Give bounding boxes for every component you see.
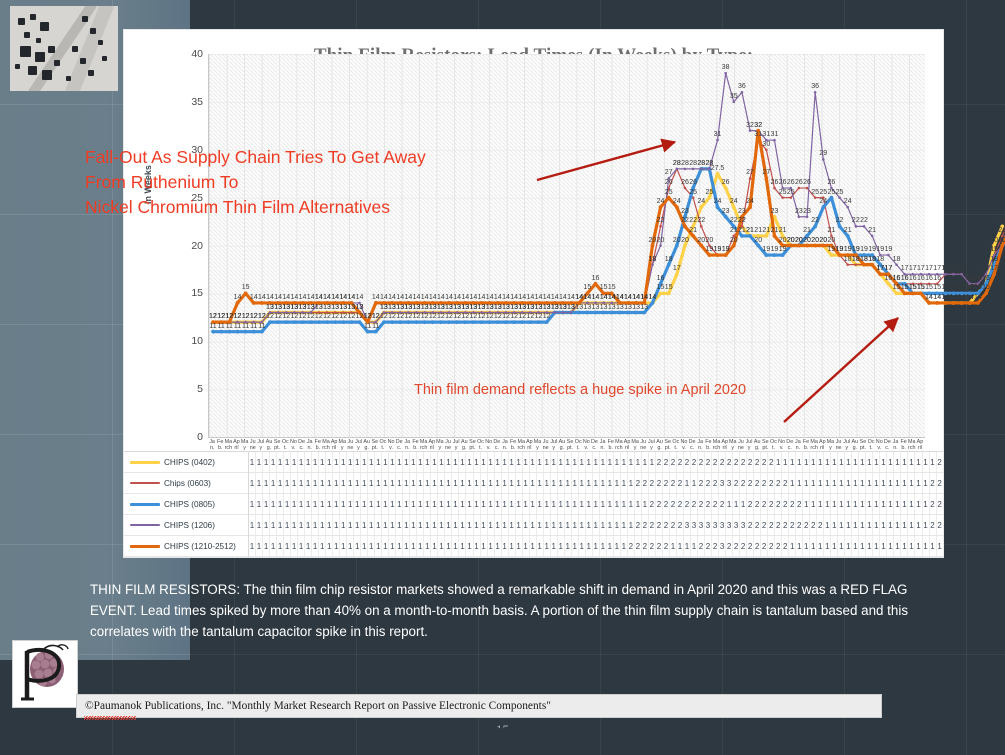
table-cell: 1 [873, 515, 880, 535]
table-cell: 1 [621, 536, 628, 556]
table-cell: 1 [642, 494, 649, 514]
series-marker [740, 234, 744, 238]
data-label: 13 [526, 304, 534, 311]
data-label: 12 [470, 313, 478, 320]
series-marker [651, 263, 654, 266]
table-cell: 1 [915, 473, 922, 493]
table-cell: 2 [726, 536, 733, 556]
table-cell: 2 [803, 515, 810, 535]
x-tick-label: May [826, 439, 834, 451]
series-marker [789, 244, 793, 248]
table-cell: 1 [291, 473, 298, 493]
table-cell: 2 [677, 452, 684, 472]
chip-resistor-photo [10, 6, 118, 91]
table-cell: 3 [705, 515, 712, 535]
table-cell: 2 [712, 473, 719, 493]
table-cell: 1 [263, 494, 270, 514]
data-label: 13 [356, 304, 364, 311]
data-label: 13 [413, 304, 421, 311]
data-label: 32 [754, 122, 762, 129]
table-cell: 1 [544, 515, 551, 535]
series-marker [797, 244, 801, 248]
data-label: 13 [600, 304, 608, 311]
x-tick-label: Jan. [696, 439, 704, 451]
table-cell: 1 [502, 452, 509, 472]
x-tick-label: Oct. [672, 439, 680, 451]
table-cell: 1 [396, 515, 403, 535]
table-cell: 1 [438, 494, 445, 514]
x-tick-label: Feb. [704, 439, 712, 451]
data-label: 19 [722, 246, 730, 253]
table-cell: 1 [389, 536, 396, 556]
table-cell: 1 [572, 494, 579, 514]
table-cell: 2 [698, 494, 705, 514]
series-marker [830, 253, 834, 257]
series-marker [651, 244, 655, 248]
data-label: 20 [649, 237, 657, 244]
data-label: 20 [998, 237, 1005, 244]
table-cell: 2 [937, 473, 944, 493]
table-cell: 1 [340, 473, 347, 493]
table-row[interactable]: 1111111111111111111111111111111111111111… [249, 452, 943, 473]
table-cell: 1 [565, 536, 572, 556]
table-cell: 1 [523, 515, 530, 535]
table-cell: 1 [291, 515, 298, 535]
series-marker [773, 234, 777, 238]
table-cell: 3 [726, 473, 733, 493]
table-cell: 1 [354, 494, 361, 514]
table-cell: 1 [431, 536, 438, 556]
data-label: 14 [925, 294, 933, 301]
table-cell: 3 [719, 515, 726, 535]
table-cell: 1 [537, 515, 544, 535]
table-cell: 1 [593, 515, 600, 535]
table-row[interactable]: 1111111111111111111111111111111111111111… [249, 473, 943, 494]
data-label: 20 [811, 237, 819, 244]
legend-color-swatch [130, 461, 160, 464]
series-marker [570, 311, 573, 314]
table-cell: 1 [319, 515, 326, 535]
data-label: 14 [941, 294, 949, 301]
table-cell: 1 [495, 494, 502, 514]
data-label: 15 [917, 284, 925, 291]
table-cell: 1 [445, 536, 452, 556]
data-label: 14 [347, 294, 355, 301]
series-marker [707, 196, 711, 200]
series-marker [781, 196, 784, 199]
table-cell: 1 [347, 536, 354, 556]
table-cell: 1 [852, 536, 859, 556]
table-cell: 1 [607, 452, 614, 472]
table-cell: 1 [256, 473, 263, 493]
table-cell: 1 [810, 473, 817, 493]
x-tick-label: April [232, 439, 240, 451]
table-row[interactable]: 1111111111111111111111111111111111111111… [249, 515, 943, 536]
table-cell: 1 [537, 494, 544, 514]
series-marker [911, 291, 915, 295]
series-marker [577, 311, 581, 315]
table-cell: 1 [544, 536, 551, 556]
legend-row[interactable]: CHIPS (1210-2512) [124, 536, 248, 557]
table-cell: 1 [368, 515, 375, 535]
table-cell: 1 [803, 536, 810, 556]
data-label: 14 [559, 294, 567, 301]
series-marker [919, 291, 923, 295]
legend-color-swatch [130, 545, 160, 548]
series-marker [943, 301, 947, 305]
data-label: 13 [291, 304, 299, 311]
data-label: 16 [657, 275, 665, 282]
table-cell: 1 [593, 452, 600, 472]
table-cell: 2 [656, 452, 663, 472]
table-row[interactable]: 1111111111111111111111111111111111111111… [249, 536, 943, 557]
table-cell: 1 [277, 452, 284, 472]
table-cell: 1 [452, 473, 459, 493]
table-cell: 1 [445, 473, 452, 493]
table-cell: 1 [796, 536, 803, 556]
data-label: 13 [616, 304, 624, 311]
data-label: 14 [510, 294, 518, 301]
table-cell: 1 [565, 515, 572, 535]
table-cell: 1 [579, 473, 586, 493]
legend-row[interactable]: CHIPS (0805) [124, 494, 248, 515]
x-tick-label: April [623, 439, 631, 451]
series-marker [878, 272, 882, 276]
series-marker [659, 244, 662, 247]
data-label: 27 [665, 169, 673, 176]
table-cell: 2 [656, 515, 663, 535]
data-label: 14 [600, 294, 608, 301]
series-marker [390, 320, 394, 324]
data-label: 12 [404, 313, 412, 320]
data-label: 13 [567, 304, 575, 311]
x-tick-label: June [346, 439, 354, 451]
table-cell: 1 [459, 473, 466, 493]
table-cell: 1 [831, 452, 838, 472]
data-label: 12 [396, 313, 404, 320]
table-cell: 1 [424, 452, 431, 472]
data-label: 14 [950, 294, 958, 301]
data-label: 32 [746, 122, 754, 129]
data-label: 21 [738, 227, 746, 234]
table-cell: 1 [628, 452, 635, 472]
table-cell: 1 [572, 515, 579, 535]
table-cell: 1 [333, 473, 340, 493]
table-cell: 2 [733, 473, 740, 493]
data-label: 20 [779, 237, 787, 244]
table-cell: 2 [761, 494, 768, 514]
table-cell: 1 [726, 494, 733, 514]
table-cell: 2 [698, 536, 705, 556]
data-label: 13 [640, 304, 648, 311]
table-cell: 2 [705, 494, 712, 514]
data-label: 38 [722, 64, 730, 71]
data-label: 14 [421, 294, 429, 301]
series-marker [699, 244, 703, 248]
table-cell: 1 [389, 473, 396, 493]
series-marker [732, 244, 736, 248]
data-label: 13 [315, 304, 323, 311]
data-label: 11 [258, 323, 265, 330]
table-cell: 1 [305, 515, 312, 535]
table-cell: 1 [466, 515, 473, 535]
table-cell: 3 [719, 473, 726, 493]
data-label: 12 [217, 313, 225, 320]
data-label: 12 [315, 313, 323, 320]
data-label: 14 [396, 294, 404, 301]
table-cell: 1 [607, 473, 614, 493]
data-label: 14 [315, 294, 323, 301]
x-tick-label: Jan. [501, 439, 509, 451]
x-tick-label: Oct. [281, 439, 289, 451]
table-cell: 1 [558, 494, 565, 514]
data-label: 20 [657, 237, 665, 244]
series-marker [260, 301, 264, 305]
table-cell: 1 [256, 536, 263, 556]
series-marker [716, 172, 720, 176]
data-label: 31 [714, 131, 722, 138]
table-cell: 2 [937, 452, 944, 472]
data-label: 14 [575, 294, 583, 301]
series-marker [537, 320, 541, 324]
data-label: 17 [901, 265, 909, 272]
series-marker [724, 72, 727, 75]
data-label: 12 [347, 313, 355, 320]
data-label: 13 [470, 304, 478, 311]
legend-row[interactable]: Chips (0603) [124, 473, 248, 494]
series-marker [862, 263, 866, 267]
series-marker [748, 234, 752, 238]
data-label: 19 [876, 246, 884, 253]
table-cell: 1 [438, 515, 445, 535]
x-tick-label: Jan. [306, 439, 314, 451]
data-label: 13 [396, 304, 404, 311]
series-marker [756, 244, 760, 248]
table-cell: 1 [600, 515, 607, 535]
data-label: 15 [665, 284, 673, 291]
x-tick-label: April [721, 439, 729, 451]
data-label: 26 [771, 179, 779, 186]
series-marker [748, 205, 752, 209]
data-label: 14 [274, 294, 282, 301]
table-cell: 2 [768, 515, 775, 535]
legend-row[interactable]: CHIPS (0402) [124, 452, 248, 473]
table-cell: 1 [866, 536, 873, 556]
series-marker [366, 330, 370, 334]
table-cell: 3 [740, 515, 747, 535]
data-label: 11 [242, 323, 249, 330]
data-label: 14 [453, 294, 461, 301]
x-tick-label: May [631, 439, 639, 451]
table-cell: 1 [319, 536, 326, 556]
data-label: 12 [209, 313, 217, 320]
series-marker [806, 215, 809, 218]
legend-row[interactable]: CHIPS (1206) [124, 515, 248, 536]
table-cell: 1 [621, 473, 628, 493]
table-cell: 1 [326, 515, 333, 535]
data-label: 12 [413, 313, 421, 320]
data-label: 13 [518, 304, 526, 311]
series-marker [610, 311, 614, 315]
table-cell: 1 [396, 494, 403, 514]
data-label: 14 [486, 294, 494, 301]
footer-text: ©Paumanok Publications, Inc. "Monthly Ma… [85, 700, 551, 712]
table-cell: 2 [754, 494, 761, 514]
x-tick-label: July [843, 439, 851, 451]
table-cell: 1 [544, 473, 551, 493]
series-marker [683, 224, 687, 228]
series-marker [773, 253, 777, 257]
series-marker [741, 91, 744, 94]
table-cell: 1 [298, 473, 305, 493]
table-cell: 1 [488, 494, 495, 514]
x-tick-label: April [428, 439, 436, 451]
data-label: 13 [592, 304, 600, 311]
table-cell: 1 [537, 536, 544, 556]
table-cell: 1 [593, 536, 600, 556]
table-cell: 1 [845, 452, 852, 472]
data-label: 13 [559, 304, 567, 311]
table-cell: 1 [509, 473, 516, 493]
table-cell: 1 [333, 536, 340, 556]
data-label: 14 [461, 294, 469, 301]
table-cell: 1 [403, 473, 410, 493]
data-label: 12 [526, 313, 534, 320]
data-label: 13 [339, 304, 347, 311]
table-cell: 1 [684, 473, 691, 493]
table-cell: 1 [284, 515, 291, 535]
table-cell: 2 [726, 452, 733, 472]
series-marker [773, 187, 776, 190]
table-cell: 1 [831, 494, 838, 514]
data-label: 20 [697, 237, 705, 244]
table-cell: 1 [249, 515, 256, 535]
series-marker [325, 320, 329, 324]
table-cell: 2 [775, 494, 782, 514]
data-label: 15 [893, 284, 901, 291]
series-marker [301, 320, 305, 324]
data-label: 14 [445, 294, 453, 301]
data-label: 23 [795, 208, 803, 215]
x-tick-label: April [818, 439, 826, 451]
table-cell: 1 [908, 515, 915, 535]
data-label: 13 [624, 304, 632, 311]
table-cell: 1 [481, 536, 488, 556]
data-label: 14 [413, 294, 421, 301]
series-marker [968, 301, 972, 305]
table-cell: 1 [621, 452, 628, 472]
series-marker [683, 244, 687, 248]
data-label: 28 [673, 160, 681, 167]
table-cell: 1 [635, 452, 642, 472]
series-marker [520, 320, 524, 324]
table-cell: 1 [481, 494, 488, 514]
table-cell: 1 [537, 473, 544, 493]
data-label: 15 [933, 284, 941, 291]
series-marker [716, 205, 720, 209]
x-tick-label: Sept. [468, 439, 476, 451]
series-marker [798, 187, 801, 190]
data-label: 26 [795, 179, 803, 186]
series-marker [773, 139, 776, 142]
table-cell: 1 [607, 494, 614, 514]
data-label: 13 [453, 304, 461, 311]
data-label: 14 [291, 294, 299, 301]
table-cell: 1 [635, 494, 642, 514]
series-marker [838, 196, 841, 199]
table-cell: 1 [452, 515, 459, 535]
data-label: 19 [779, 246, 787, 253]
series-marker [700, 225, 703, 228]
table-cell: 1 [312, 515, 319, 535]
series-marker [211, 330, 215, 334]
table-row[interactable]: 1111111111111111111111111111111111111111… [249, 494, 943, 515]
table-cell: 1 [628, 473, 635, 493]
series-marker [676, 168, 679, 171]
table-cell: 2 [747, 494, 754, 514]
table-cell: 1 [382, 515, 389, 535]
series-marker [512, 320, 516, 324]
data-label: 22 [852, 217, 860, 224]
table-cell: 1 [887, 515, 894, 535]
series-marker [944, 273, 947, 276]
table-cell: 2 [670, 473, 677, 493]
table-cell: 1 [831, 536, 838, 556]
legend-color-swatch [130, 482, 160, 484]
table-cell: 1 [894, 452, 901, 472]
legend-label: CHIPS (0805) [164, 500, 215, 509]
series-marker [863, 225, 866, 228]
data-label: 11 [209, 323, 216, 330]
data-label: 12 [535, 313, 543, 320]
x-tick-label: June [639, 439, 647, 451]
data-label: 14 [331, 294, 339, 301]
table-cell: 1 [502, 536, 509, 556]
table-cell: 1 [894, 494, 901, 514]
x-tick-label: Dec. [395, 439, 403, 451]
data-label: 11 [234, 323, 241, 330]
table-cell: 1 [495, 473, 502, 493]
series-marker [992, 272, 996, 276]
data-label: 14 [372, 294, 380, 301]
table-cell: 1 [691, 536, 698, 556]
series-marker [667, 291, 671, 295]
table-cell: 1 [530, 473, 537, 493]
table-cell: 1 [466, 494, 473, 514]
table-cell: 2 [775, 515, 782, 535]
series-marker [814, 91, 817, 94]
table-cell: 1 [291, 536, 298, 556]
series-marker [846, 206, 849, 209]
table-cell: 1 [558, 515, 565, 535]
data-label: 14 [307, 294, 315, 301]
table-cell: 1 [495, 536, 502, 556]
data-label: 11 [226, 323, 233, 330]
table-cell: 3 [733, 515, 740, 535]
series-marker [602, 311, 606, 315]
table-cell: 1 [354, 515, 361, 535]
data-label: 13 [380, 304, 388, 311]
series-marker [439, 320, 443, 324]
table-cell: 1 [396, 536, 403, 556]
table-cell: 2 [782, 536, 789, 556]
table-cell: 1 [312, 473, 319, 493]
data-label: 26 [689, 179, 697, 186]
table-cell: 1 [915, 452, 922, 472]
data-label: 18 [990, 256, 998, 263]
table-cell: 1 [852, 494, 859, 514]
table-cell: 1 [621, 494, 628, 514]
